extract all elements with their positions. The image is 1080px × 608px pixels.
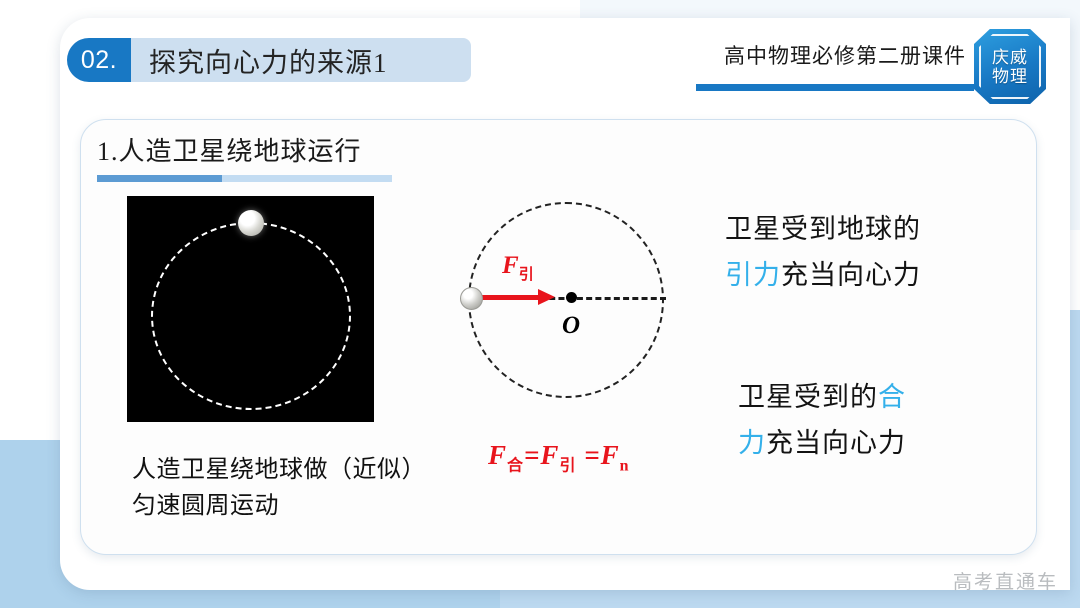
subsection-underline-light [222, 175, 392, 182]
satellite-dot-icon [460, 287, 483, 310]
caption-line-2: 匀速圆周运动 [132, 488, 462, 524]
equation-f1: F [488, 440, 507, 470]
page-title: 探究向心力的来源1 [131, 38, 471, 82]
note2-line-2: 力充当向心力 [738, 420, 988, 466]
earth-photo-caption: 人造卫星绕地球做（近似） 匀速圆周运动 [132, 452, 462, 524]
note-block-1: 卫星受到地球的 引力充当向心力 [725, 206, 975, 298]
force-label: F引 [502, 252, 534, 284]
course-label: 高中物理必修第二册课件 [724, 40, 966, 70]
subsection-underline-dark [97, 175, 222, 182]
equation-eq1: = [524, 440, 540, 470]
force-arrow-head-icon [538, 289, 555, 305]
center-label: O [562, 312, 580, 340]
brand-logo-line1: 庆威 [992, 48, 1028, 67]
earth-photo [127, 196, 374, 422]
caption-line-1: 人造卫星绕地球做（近似） [132, 452, 462, 488]
note1-line-2: 引力充当向心力 [725, 252, 975, 298]
brand-logo-line2: 物理 [992, 67, 1028, 86]
force-label-symbol: F [502, 252, 519, 279]
equation-f3-sub: n [620, 457, 630, 474]
earth-globe-icon [176, 248, 326, 398]
slide-canvas: 02. 探究向心力的来源1 高中物理必修第二册课件 庆威 物理 1.人造卫星绕地… [0, 0, 1080, 608]
equation-f2-sub: 引 [559, 457, 576, 474]
note2-line1-rest: 卫星受到的 [738, 382, 878, 412]
header-rule [696, 84, 974, 91]
center-point-dot [566, 292, 577, 303]
force-diagram: F引 O [440, 188, 730, 438]
note1-highlight: 引力 [725, 260, 781, 290]
equation-f1-sub: 合 [507, 457, 524, 474]
radius-dashed-line [540, 297, 666, 300]
force-arrow-shaft [474, 295, 542, 300]
equation-f2: F [540, 440, 559, 470]
subsection-title: 1.人造卫星绕地球运行 [97, 131, 362, 168]
header-right-group: 高中物理必修第二册课件 庆威 物理 [672, 40, 1042, 102]
equation-eq2: = [584, 440, 600, 470]
equation-f3: F [601, 440, 620, 470]
force-label-subscript: 引 [519, 267, 534, 283]
section-number-badge: 02. [67, 38, 131, 82]
satellite-moon-icon [238, 210, 264, 236]
note2-line2-rest: 充当向心力 [766, 428, 906, 458]
watermark: 高考直通车 [953, 567, 1058, 594]
brand-logo-icon: 庆威 物理 [974, 29, 1046, 104]
note-block-2: 卫星受到的合 力充当向心力 [738, 374, 988, 466]
note1-line-1: 卫星受到地球的 [725, 206, 975, 252]
note2-highlight-1: 合 [878, 382, 906, 412]
note2-highlight-2: 力 [738, 428, 766, 458]
force-equation: F合=F引 =Fn [488, 440, 630, 475]
note1-line2-rest: 充当向心力 [781, 260, 921, 290]
note2-line-1: 卫星受到的合 [738, 374, 988, 420]
